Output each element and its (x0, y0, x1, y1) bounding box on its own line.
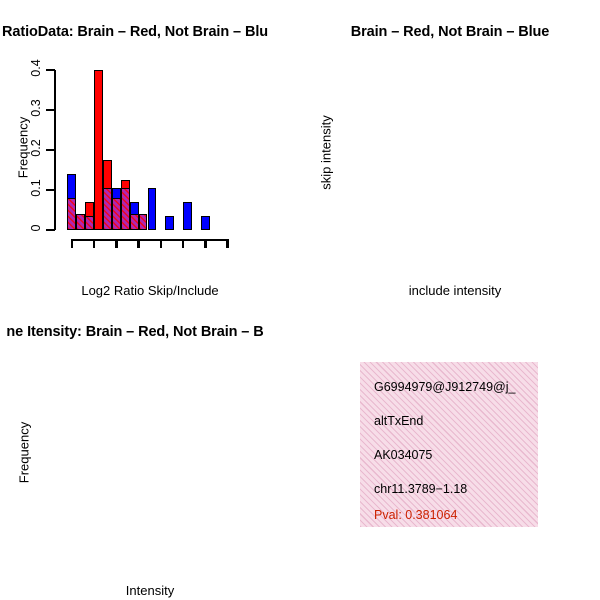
panel-scatter: Brain – Red, Not Brain – Blue skip inten… (300, 0, 600, 300)
histogram-bar-overlap (130, 214, 139, 230)
histogram-bar (183, 202, 192, 230)
histogram-bar-overlap (112, 198, 121, 230)
histogram-bar (201, 216, 210, 230)
x-tick (71, 239, 73, 248)
ratio-histogram-title: RatioData: Brain – Red, Not Brain – Blu (0, 24, 300, 40)
histogram-bar-overlap (103, 188, 112, 230)
y-tick (46, 229, 55, 231)
histogram-bar (165, 216, 174, 230)
panel-info: G6994979@J912749@j_ altTxEnd AK034075 ch… (300, 300, 600, 600)
histogram-bar-overlap (121, 188, 130, 230)
x-tick (160, 239, 162, 248)
y-ticklabel: 0.4 (29, 47, 43, 89)
panel-gene-histogram: ne Itensity: Brain – Red, Not Brain – B … (0, 300, 300, 600)
x-tick (93, 239, 95, 248)
info-line-event-id: G6994979@J912749@j_ (374, 380, 515, 394)
info-line-accession: AK034075 (374, 448, 432, 462)
y-ticklabel: 0.2 (29, 127, 43, 169)
y-tick (46, 189, 55, 191)
scatter-ylabel: skip intensity (319, 103, 334, 203)
y-tick (46, 69, 55, 71)
y-ticklabel: 0.1 (29, 167, 43, 209)
gene-histogram-ylabel: Frequency (17, 403, 32, 503)
y-tick (46, 149, 55, 151)
info-line-pvalue: Pval: 0.381064 (374, 508, 457, 522)
x-tick (204, 239, 206, 248)
info-line-event-type: altTxEnd (374, 414, 423, 428)
x-tick (137, 239, 139, 248)
gene-histogram-title: ne Itensity: Brain – Red, Not Brain – B (0, 324, 300, 340)
info-line-locus: chr11.3789−1.18 (374, 482, 467, 496)
histogram-bar (94, 70, 103, 230)
annotation-box: G6994979@J912749@j_ altTxEnd AK034075 ch… (360, 362, 538, 527)
gene-histogram-xlabel: Intensity (60, 583, 240, 598)
histogram-bar (148, 188, 157, 230)
ratio-histogram-xlabel: Log2 Ratio Skip/Include (30, 283, 270, 298)
x-tick (115, 239, 117, 248)
scatter-title: Brain – Red, Not Brain – Blue (300, 24, 600, 40)
scatter-xlabel: include intensity (340, 283, 570, 298)
histogram-bar-overlap (139, 214, 148, 230)
histogram-bar-overlap (85, 216, 94, 230)
y-ticklabel: 0 (29, 207, 43, 249)
histogram-bar-overlap (67, 198, 76, 230)
panel-ratio-histogram: RatioData: Brain – Red, Not Brain – Blu … (0, 0, 300, 300)
y-tick (46, 109, 55, 111)
x-tick (182, 239, 184, 248)
y-ticklabel: 0.3 (29, 87, 43, 129)
x-tick (226, 239, 228, 248)
histogram-bar-overlap (76, 214, 85, 230)
figure-canvas: RatioData: Brain – Red, Not Brain – Blu … (0, 0, 600, 600)
